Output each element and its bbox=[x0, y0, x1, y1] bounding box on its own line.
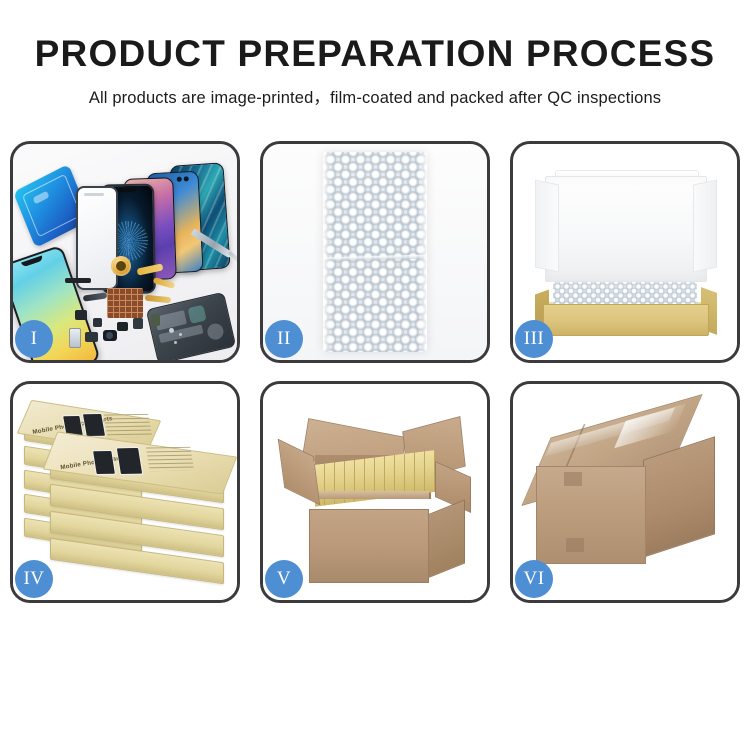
speaker-module-part bbox=[85, 332, 98, 342]
step-badge-6: VI bbox=[515, 560, 553, 598]
battery-connector-part bbox=[151, 314, 160, 326]
box-product-photo bbox=[92, 450, 116, 475]
box-spec-text-lines bbox=[104, 414, 153, 438]
copper-heat-grid-part bbox=[107, 288, 143, 318]
connector-chip-part bbox=[133, 318, 143, 329]
carton-hand-hole bbox=[566, 538, 584, 552]
step-badge-2: II bbox=[265, 320, 303, 358]
box-front-panel bbox=[543, 304, 709, 336]
connector-chip-part bbox=[117, 322, 128, 331]
antenna-strip-part bbox=[65, 278, 91, 283]
step-badge-5: V bbox=[265, 560, 303, 598]
page-title: PRODUCT PREPARATION PROCESS bbox=[0, 34, 750, 74]
carton-front-panel bbox=[309, 509, 429, 583]
sim-tray-part bbox=[69, 328, 81, 348]
earpiece-slot-icon bbox=[84, 193, 104, 196]
bubble-wrap-pouch bbox=[323, 152, 427, 352]
box-product-photo bbox=[82, 413, 106, 437]
step-badge-4: IV bbox=[15, 560, 53, 598]
step-panel-5[interactable]: V bbox=[260, 381, 490, 603]
carton-hand-hole bbox=[564, 472, 582, 486]
carton-side-panel bbox=[427, 499, 465, 578]
box-product-photo bbox=[116, 447, 144, 475]
packed-box bbox=[415, 451, 425, 494]
box-lid-flap-left bbox=[535, 180, 559, 273]
step-panel-4[interactable]: Mobile Phone Spare Parts Mobile Phone Sp… bbox=[10, 381, 240, 603]
step-panel-1[interactable]: I bbox=[10, 141, 240, 363]
carton-lip bbox=[309, 491, 429, 499]
housing-cutout bbox=[206, 322, 225, 341]
packed-box bbox=[405, 452, 415, 495]
carton-side-face bbox=[643, 437, 715, 558]
flex-cable-part bbox=[145, 295, 171, 304]
notch-icon bbox=[117, 188, 137, 192]
box-lid-flap-right bbox=[693, 180, 717, 273]
box-lid-back bbox=[545, 176, 707, 282]
notch-icon bbox=[21, 256, 43, 268]
screws-part bbox=[169, 328, 174, 333]
bubble-texture bbox=[323, 152, 427, 352]
flex-cable-part bbox=[83, 292, 108, 301]
vibration-motor-part bbox=[111, 256, 131, 276]
page-subtitle: All products are image-printed，film-coat… bbox=[0, 84, 750, 108]
box-spec-text-lines bbox=[146, 447, 194, 471]
spare-parts-cluster bbox=[65, 256, 195, 360]
process-step-grid: I II bbox=[10, 141, 740, 603]
pouch-edge-right bbox=[419, 152, 427, 352]
step-badge-3: III bbox=[515, 320, 553, 358]
stacked-retail-boxes: Mobile Phone Spare Parts Mobile Phone Sp… bbox=[22, 403, 228, 589]
open-shipping-carton bbox=[275, 413, 475, 589]
sealed-shipping-carton bbox=[530, 414, 720, 582]
carton-front-face bbox=[536, 466, 646, 564]
packed-box bbox=[325, 462, 335, 505]
flex-cable-part bbox=[137, 263, 164, 275]
punch-hole-camera-icon bbox=[184, 176, 189, 181]
open-inner-box bbox=[527, 168, 723, 344]
connector-chip-part bbox=[93, 318, 102, 327]
connector-chip-part bbox=[75, 310, 87, 320]
camera-module-part bbox=[103, 330, 117, 341]
pouch-edge-left bbox=[323, 152, 331, 352]
step-panel-6[interactable]: VI bbox=[510, 381, 740, 603]
flex-cable-part bbox=[153, 277, 176, 289]
page-header: PRODUCT PREPARATION PROCESS All products… bbox=[0, 0, 750, 108]
step-panel-2[interactable]: II bbox=[260, 141, 490, 363]
step-badge-1: I bbox=[15, 320, 53, 358]
step-panel-3[interactable]: III bbox=[510, 141, 740, 363]
packed-box bbox=[425, 450, 435, 493]
